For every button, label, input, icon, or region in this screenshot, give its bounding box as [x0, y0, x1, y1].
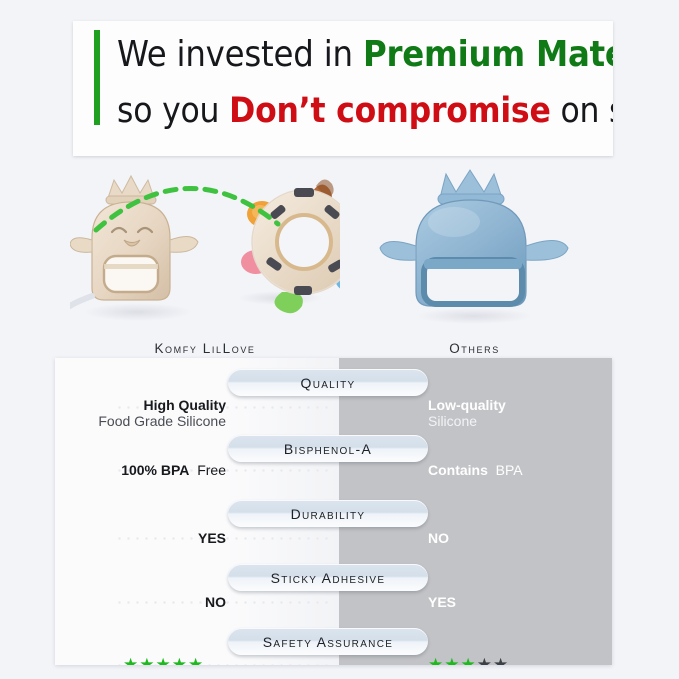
- star-icon: ★: [123, 655, 139, 665]
- star-icon: ★: [172, 655, 188, 665]
- row-value-left-main: High Quality: [144, 397, 226, 413]
- row-label-bisphenol-a: Bisphenol-A: [228, 435, 428, 462]
- headline-line1-plain: We invested in: [117, 34, 363, 75]
- blue-teether-illustration: [362, 160, 587, 328]
- row-label-quality: Quality: [228, 369, 428, 396]
- headline-line1-emphasis: Premium Materials: [363, 34, 613, 75]
- row-label-sticky-adhesive: Sticky Adhesive: [228, 564, 428, 591]
- comparison-rows: Quality High Quality Food Grade Silicone…: [55, 358, 612, 665]
- row-label-text: Bisphenol-A: [284, 441, 372, 457]
- row-value-left-main: 100% BPA: [121, 462, 189, 478]
- star-icon: ★: [493, 655, 509, 665]
- accent-bar: [94, 30, 100, 125]
- product-left: Komfy LilLove: [70, 160, 340, 358]
- row-value-left-sub: Free: [197, 462, 226, 478]
- row-label-text: Quality: [301, 375, 356, 391]
- product-left-image: [70, 160, 340, 328]
- row-value-left: 100% BPA Free: [121, 462, 226, 478]
- row-value-right: YES: [428, 594, 456, 610]
- row-value-right: NO: [428, 530, 449, 546]
- product-right: Others: [362, 160, 587, 358]
- headline-text: We invested in Premium Materials so you …: [117, 27, 607, 139]
- headline-line-1: We invested in Premium Materials: [117, 27, 607, 83]
- row-value-right: Contains BPA: [428, 462, 523, 478]
- row-label-text: Durability: [291, 506, 366, 522]
- star-icon: ★: [139, 655, 155, 665]
- headline-line2-plain-before: so you: [117, 91, 229, 131]
- product-right-image: [362, 160, 587, 328]
- product-left-label: Komfy LilLove: [70, 341, 340, 356]
- row-value-left: YES: [198, 530, 226, 546]
- row-value-right-main: Contains: [428, 462, 488, 478]
- row-value-left-sub: Food Grade Silicone: [98, 413, 226, 429]
- product-showcase: Komfy LilLove: [0, 160, 679, 358]
- row-value-right-main: Low-quality: [428, 397, 506, 413]
- star-icon: ★: [428, 655, 444, 665]
- star-icon: ★: [461, 655, 477, 665]
- row-value-left: NO: [205, 594, 226, 610]
- comparison-table: Quality High Quality Food Grade Silicone…: [55, 358, 612, 665]
- star-icon: ★: [156, 655, 172, 665]
- star-icon: ★: [444, 655, 460, 665]
- row-label-safety-assurance: Safety Assurance: [228, 628, 428, 655]
- headline-line2-emphasis: Don’t compromise: [229, 91, 551, 131]
- star-icon: ★: [188, 655, 204, 665]
- row-label-text: Safety Assurance: [263, 634, 393, 650]
- row-value-right-sub: BPA: [496, 462, 523, 478]
- row-value-right-sub: Silicone: [428, 413, 506, 429]
- rating-stars-left: ★★★★★: [123, 655, 204, 665]
- row-value-right: Low-quality Silicone: [428, 397, 506, 429]
- green-dashed-arc-icon: [92, 164, 282, 234]
- headline-banner: We invested in Premium Materials so you …: [73, 21, 613, 156]
- row-label-durability: Durability: [228, 500, 428, 527]
- row-value-left: High Quality Food Grade Silicone: [98, 397, 226, 429]
- headline-line2-plain-after: on safety: [551, 91, 613, 131]
- rating-stars-right: ★★★★★: [428, 655, 509, 665]
- row-label-text: Sticky Adhesive: [271, 570, 386, 586]
- star-icon: ★: [477, 655, 493, 665]
- headline-line-2: so you Don’t compromise on safety: [117, 83, 607, 139]
- product-right-label: Others: [362, 341, 587, 356]
